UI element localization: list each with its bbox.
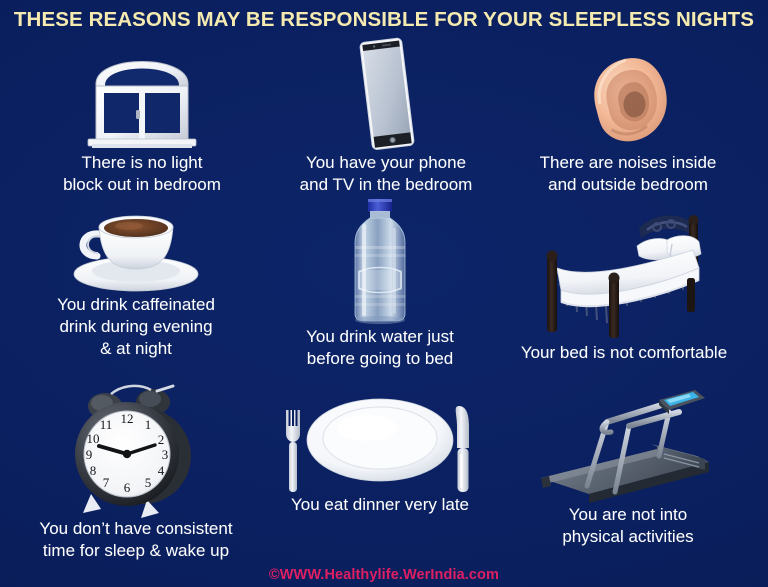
reason-caption: There is no light block out in bedroom xyxy=(14,152,270,196)
water-bottle-icon xyxy=(335,194,425,326)
reason-caption: You drink caffeinated drink during eveni… xyxy=(8,294,264,359)
reason-card-water-before-bed: You drink water just before going to bed xyxy=(252,194,508,370)
reason-caption: You have your phone and TV in the bedroo… xyxy=(258,152,514,196)
page-title: THESE REASONS MAY BE RESPONSIBLE FOR YOU… xyxy=(0,8,768,32)
smartphone-icon xyxy=(336,34,436,152)
reason-caption: You eat dinner very late xyxy=(252,494,508,516)
alarm-clock-illustration: 12 1 2 3 4 5 6 7 8 9 10 11 xyxy=(8,382,264,518)
reason-caption: You don’t have consistent time for sleep… xyxy=(8,518,264,562)
treadmill-icon xyxy=(533,382,723,504)
plate-cutlery-illustration xyxy=(252,382,508,494)
svg-text:5: 5 xyxy=(145,475,152,490)
water-bottle-illustration xyxy=(252,194,508,326)
reason-card-inconsistent-sleep-time: 12 1 2 3 4 5 6 7 8 9 10 11 xyxy=(8,382,264,562)
reason-caption: You are not into physical activities xyxy=(500,504,756,548)
plate-cutlery-icon xyxy=(267,382,493,494)
reasons-grid: There is no light block out in bedroom xyxy=(0,34,768,556)
svg-text:6: 6 xyxy=(124,480,131,495)
svg-text:1: 1 xyxy=(145,417,152,432)
svg-text:10: 10 xyxy=(87,431,100,446)
infographic-page: THESE REASONS MAY BE RESPONSIBLE FOR YOU… xyxy=(0,0,768,587)
reason-caption: Your bed is not comfortable xyxy=(496,342,752,364)
svg-text:7: 7 xyxy=(103,475,110,490)
alarm-clock-icon: 12 1 2 3 4 5 6 7 8 9 10 11 xyxy=(61,382,211,518)
svg-text:4: 4 xyxy=(158,463,165,478)
footer-credit: ©WWW.Healthylife.WerIndia.com xyxy=(0,567,768,583)
treadmill-illustration xyxy=(500,382,756,504)
reason-card-late-dinner: You eat dinner very late xyxy=(252,382,508,516)
smartphone-illustration xyxy=(258,34,514,152)
svg-text:3: 3 xyxy=(162,447,169,462)
reason-caption: You drink water just before going to bed xyxy=(252,326,508,370)
reason-card-uncomfortable-bed: Your bed is not comfortable xyxy=(496,194,752,364)
reason-card-caffeinated-drink: You drink caffeinated drink during eveni… xyxy=(8,194,264,359)
ear-illustration xyxy=(500,34,756,152)
svg-text:2: 2 xyxy=(158,432,165,447)
coffee-cup-icon xyxy=(61,194,211,294)
svg-text:9: 9 xyxy=(86,447,93,462)
bed-illustration xyxy=(496,194,752,342)
svg-text:8: 8 xyxy=(90,463,97,478)
window-illustration xyxy=(14,34,270,152)
reason-card-noises: There are noises inside and outside bedr… xyxy=(500,34,756,196)
bed-icon xyxy=(531,194,717,342)
reason-card-phone-and-tv: You have your phone and TV in the bedroo… xyxy=(258,34,514,196)
reason-card-no-physical-activity: You are not into physical activities xyxy=(500,382,756,548)
window-icon xyxy=(78,40,206,152)
reason-card-no-light-block-out: There is no light block out in bedroom xyxy=(14,34,270,196)
svg-text:11: 11 xyxy=(100,417,113,432)
reason-caption: There are noises inside and outside bedr… xyxy=(500,152,756,196)
coffee-cup-illustration xyxy=(8,194,264,294)
ear-icon xyxy=(573,48,683,152)
svg-text:12: 12 xyxy=(121,411,134,426)
